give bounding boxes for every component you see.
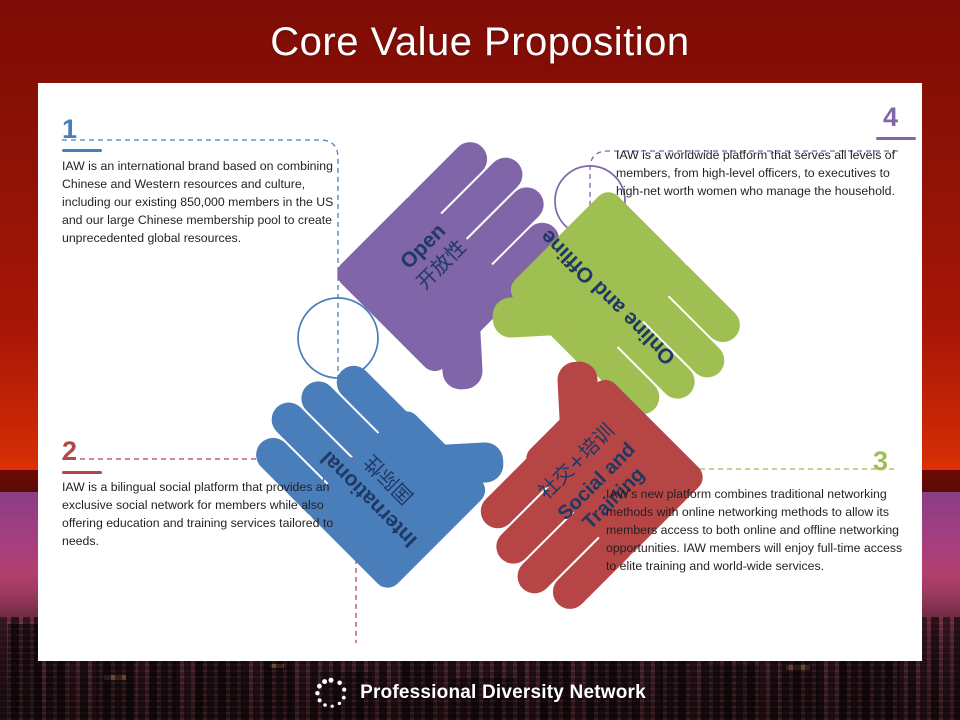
quadrant-1-number: 1	[62, 116, 362, 143]
quadrant-2-number: 2	[62, 438, 372, 465]
dotted-circle-icon	[314, 676, 348, 710]
quadrant-4-numrow: 4	[616, 104, 898, 131]
quadrant-4-body: IAW is a worldwide platform that serves …	[616, 146, 906, 200]
quadrant-3: 3 IAW's new platform combines traditiona…	[606, 448, 911, 575]
quadrant-1-rule	[62, 149, 102, 152]
quadrant-3-numrow: 3	[606, 448, 888, 475]
quadrant-4-rule	[876, 137, 916, 140]
quadrant-3-number: 3	[873, 446, 888, 476]
brand-name: Professional Diversity Network	[360, 682, 646, 704]
quadrant-2-body: IAW is a bilingual social platform that …	[62, 478, 364, 550]
slide-title: Core Value Proposition	[0, 20, 960, 65]
quadrant-2: 2 IAW is a bilingual social platform tha…	[62, 438, 372, 550]
quadrant-1-body: IAW is an international brand based on c…	[62, 157, 347, 247]
quadrant-1: 1 IAW is an international brand based on…	[62, 116, 362, 247]
quadrant-4-number: 4	[883, 102, 898, 132]
quadrant-4: 4 IAW is a worldwide platform that serve…	[616, 104, 916, 200]
slide-root: Core Value Proposition	[0, 0, 960, 720]
quadrant-3-body: IAW's new platform combines traditional …	[606, 485, 906, 575]
quadrant-2-rule	[62, 471, 102, 474]
footer-branding: Professional Diversity Network	[0, 666, 960, 720]
